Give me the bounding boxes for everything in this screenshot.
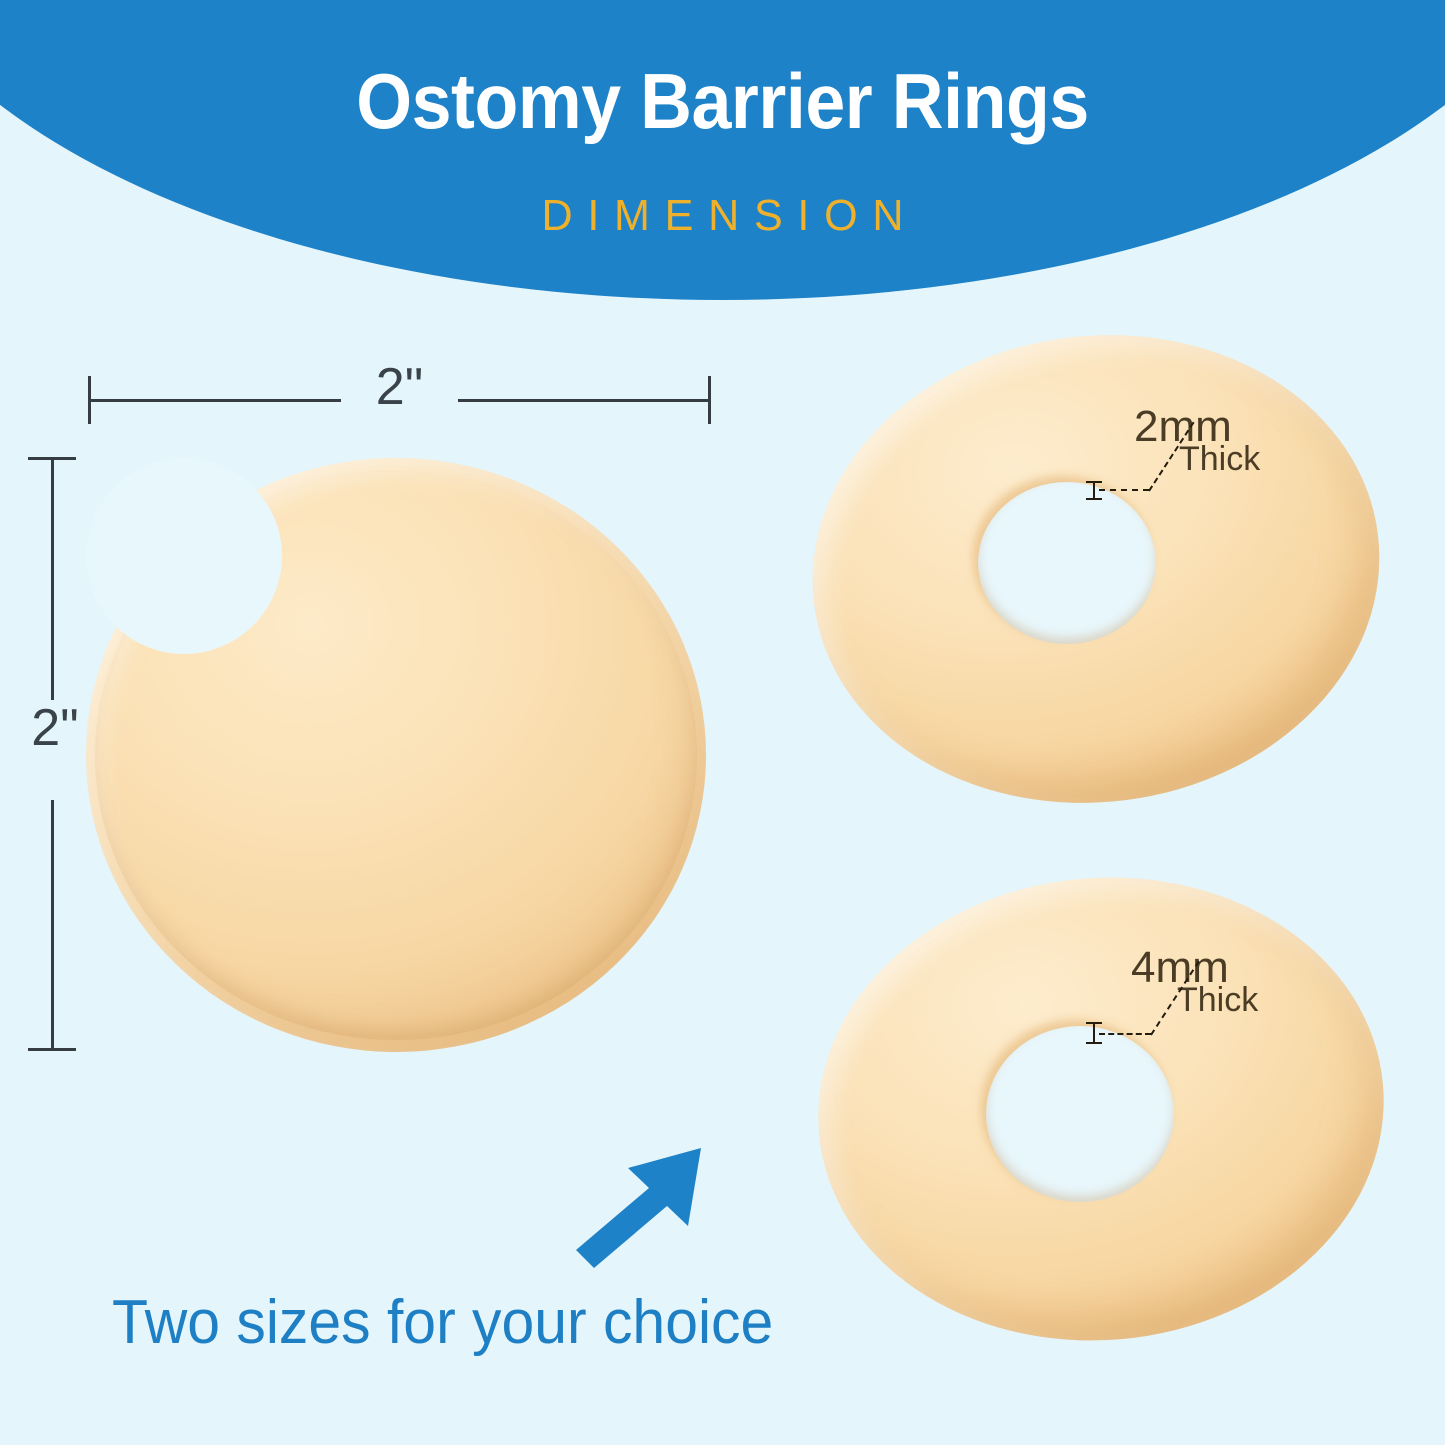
infographic-canvas: Ostomy Barrier Rings DIMENSION 2" 2" 2mm… [0,0,1445,1445]
thickness-leader-horizontal-2mm [1099,489,1149,491]
barrier-ring-front-view [86,458,706,1052]
arrow-up-right-icon [570,1144,706,1268]
ring-center-hole [986,1026,1174,1202]
height-bar-bottom [51,800,54,1051]
page-title: Ostomy Barrier Rings [58,62,1387,140]
thickness-word-2mm: Thick [1179,442,1260,476]
ring-center-hole [978,482,1156,644]
thickness-ibeam-cap-top-2mm [1086,481,1102,483]
thickness-ibeam-marker-4mm [1093,1022,1095,1044]
thickness-ibeam-cap-bottom-2mm [1086,498,1102,500]
width-bar-left [88,399,341,402]
page-subtitle: DIMENSION [14,194,1430,238]
ring-center-hole [86,458,282,654]
footer-caption: Two sizes for your choice [112,1292,773,1354]
height-dimension-label: 2" [20,700,90,757]
thickness-ibeam-cap-bottom-4mm [1086,1042,1102,1044]
barrier-ring-2mm [812,336,1380,802]
width-bar-right [458,399,710,402]
height-bar-top [51,457,54,700]
thickness-leader-horizontal-4mm [1099,1033,1151,1035]
thickness-ibeam-cap-top-4mm [1086,1022,1102,1024]
thickness-word-4mm: Thick [1177,983,1258,1017]
header-banner [0,0,1445,300]
barrier-ring-4mm [818,878,1384,1340]
width-dimension-label: 2" [341,359,458,416]
